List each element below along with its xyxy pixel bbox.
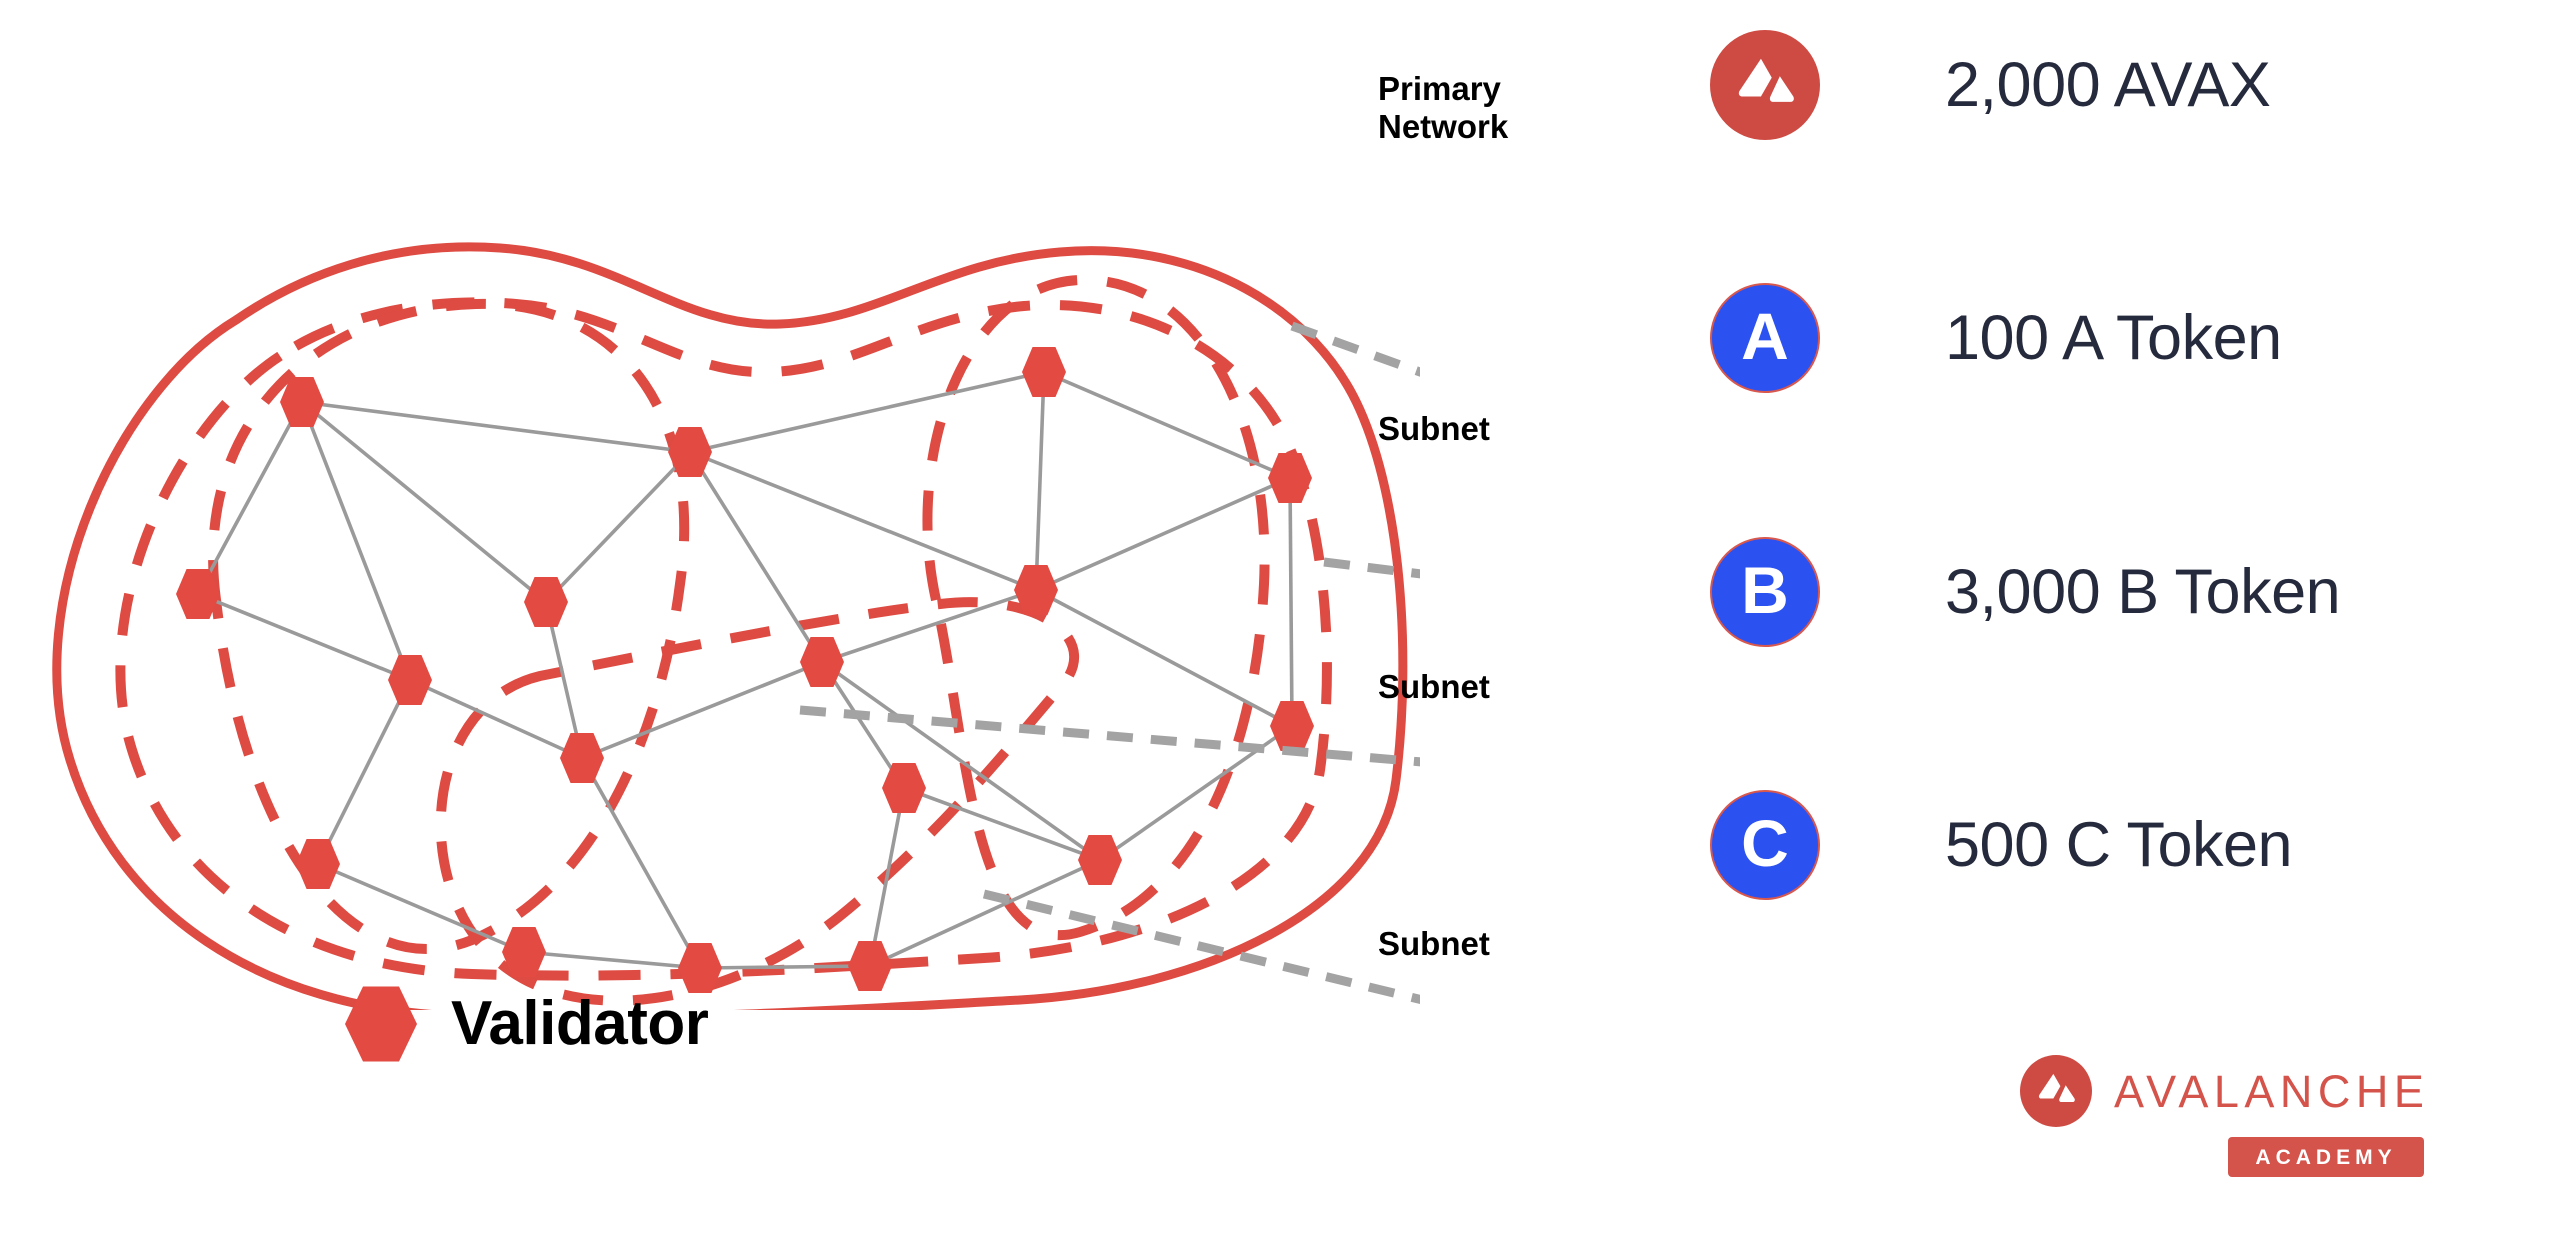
graph-edge xyxy=(1036,478,1290,590)
hexagon-icon xyxy=(560,733,604,783)
avalanche-academy-logo: AVALANCHE ACADEMY xyxy=(2020,1055,2490,1185)
token-amount-b: 3,000 B Token xyxy=(1945,561,2340,624)
hexagon-icon xyxy=(296,839,340,889)
graph-edges xyxy=(198,372,1292,968)
token-amount-a: 100 A Token xyxy=(1945,307,2282,370)
network-diagram xyxy=(0,0,1420,1010)
graph-edge xyxy=(410,680,582,758)
graph-edge xyxy=(302,402,410,680)
hexagon-icon xyxy=(1022,347,1066,397)
subnet-letter-c: C xyxy=(1741,810,1789,876)
graph-edge xyxy=(582,758,700,968)
subnet-letter-a: A xyxy=(1741,303,1789,369)
academy-badge-label: ACADEMY xyxy=(2255,1147,2396,1168)
graph-edge xyxy=(690,372,1044,452)
legend-row-subnet-b: B 3,000 B Token xyxy=(1710,537,2340,647)
graph-edge xyxy=(318,680,410,864)
arrow-subnet-a xyxy=(1324,562,1420,580)
subnet-circle-icon-a: A xyxy=(1710,283,1820,393)
graph-edge xyxy=(302,402,546,602)
graph-edge xyxy=(700,966,870,968)
validator-legend-label: Validator xyxy=(451,993,708,1055)
graph-edge xyxy=(318,864,524,952)
hexagon-icon xyxy=(345,985,417,1063)
graph-edge xyxy=(870,788,904,966)
pointer-label-subnet-c: Subnet xyxy=(1378,925,1490,963)
avalanche-logo-icon xyxy=(2020,1055,2092,1127)
legend-row-subnet-a: A 100 A Token xyxy=(1710,283,2282,393)
pointer-label-primary-network: Primary Network xyxy=(1378,70,1508,147)
graph-edge xyxy=(822,590,1036,662)
avalanche-logo-icon xyxy=(1710,30,1820,140)
token-amount-avax: 2,000 AVAX xyxy=(1945,54,2270,117)
token-amount-c: 500 C Token xyxy=(1945,814,2292,877)
validator-legend: Validator xyxy=(345,985,708,1063)
graph-edge xyxy=(822,662,1100,860)
graph-edge xyxy=(1290,478,1292,726)
subnet-letter-b: B xyxy=(1741,557,1789,623)
graph-edge xyxy=(1036,372,1044,590)
pointer-label-subnet-b: Subnet xyxy=(1378,668,1490,706)
academy-badge: ACADEMY xyxy=(2228,1137,2424,1177)
hexagon-icon xyxy=(1270,701,1314,751)
academy-logo-top: AVALANCHE xyxy=(2020,1055,2490,1127)
legend-row-subnet-c: C 500 C Token xyxy=(1710,790,2292,900)
academy-wordmark: AVALANCHE xyxy=(2114,1069,2429,1114)
graph-edge xyxy=(582,662,822,758)
legend-row-avax: 2,000 AVAX xyxy=(1710,30,2270,140)
hexagon-icon xyxy=(388,655,432,705)
hexagon-icon xyxy=(800,637,844,687)
pointer-label-subnet-a: Subnet xyxy=(1378,410,1490,448)
hexagon-icon xyxy=(1268,453,1312,503)
graph-edge xyxy=(524,952,700,968)
subnet-circle-icon-b: B xyxy=(1710,537,1820,647)
hexagon-icon xyxy=(1078,835,1122,885)
primary-network-boundary xyxy=(57,247,1403,1010)
arrow-primary-network xyxy=(1292,326,1420,390)
graph-edge xyxy=(302,402,690,452)
graph-edge xyxy=(1044,372,1290,478)
subnet-circle-icon-c: C xyxy=(1710,790,1820,900)
hexagon-icon xyxy=(848,941,892,991)
hexagon-icon xyxy=(882,763,926,813)
graph-edge xyxy=(546,452,690,602)
graph-edge xyxy=(690,452,1036,590)
